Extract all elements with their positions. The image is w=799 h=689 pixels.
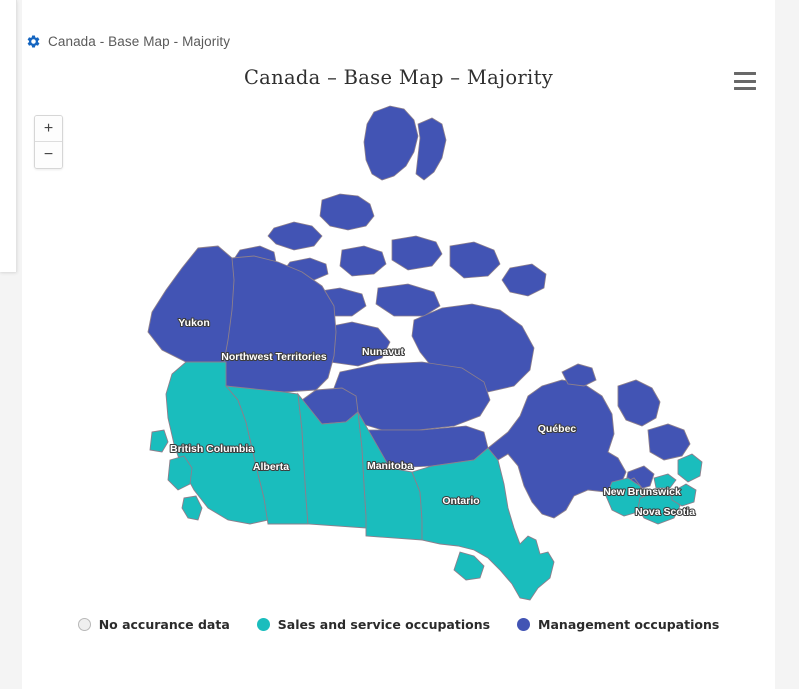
legend-label-sales-and-service: Sales and service occupations (278, 617, 490, 632)
map-svg: Yukon Northwest Territories Nunavut Brit… (22, 100, 775, 605)
map-label-alberta: Alberta (253, 461, 289, 473)
map-label-northwest-territories: Northwest Territories (221, 351, 327, 363)
hamburger-bar-2 (734, 80, 756, 83)
legend-label-management: Management occupations (538, 617, 719, 632)
legend-label-no-data: No accurance data (99, 617, 230, 632)
breadcrumb[interactable]: Canada - Base Map - Majority (26, 31, 230, 51)
legend-swatch-sales-and-service (257, 618, 270, 631)
region-yukon[interactable] (148, 246, 236, 362)
right-gutter (775, 0, 799, 689)
legend-swatch-management (517, 618, 530, 631)
legend-item-no-data[interactable]: No accurance data (78, 617, 230, 632)
map-label-quebec: Québec (538, 423, 577, 435)
canada-choropleth-map[interactable]: Yukon Northwest Territories Nunavut Brit… (22, 100, 775, 605)
hamburger-menu-icon[interactable] (734, 72, 756, 90)
map-legend: No accurance data Sales and service occu… (22, 617, 775, 632)
map-label-manitoba: Manitoba (367, 460, 413, 472)
map-label-yukon: Yukon (178, 317, 210, 329)
left-side-card (0, 0, 17, 272)
gear-icon (26, 34, 41, 49)
map-application: Canada - Base Map - Majority Canada – Ba… (0, 0, 799, 689)
hamburger-bar-3 (734, 87, 756, 90)
hamburger-bar-1 (734, 72, 756, 75)
map-label-new-brunswick: New Brunswick (603, 486, 681, 498)
map-label-british-columbia: British Columbia (170, 443, 254, 455)
breadcrumb-label: Canada - Base Map - Majority (48, 34, 230, 49)
map-label-ontario: Ontario (442, 495, 479, 507)
map-label-nunavut: Nunavut (362, 346, 405, 358)
legend-swatch-no-data (78, 618, 91, 631)
content-panel: Canada - Base Map - Majority Canada – Ba… (22, 0, 775, 689)
legend-item-sales-and-service[interactable]: Sales and service occupations (257, 617, 490, 632)
map-label-nova-scotia: Nova Scotia (635, 506, 695, 518)
legend-item-management[interactable]: Management occupations (517, 617, 719, 632)
page-title: Canada – Base Map – Majority (22, 66, 775, 89)
